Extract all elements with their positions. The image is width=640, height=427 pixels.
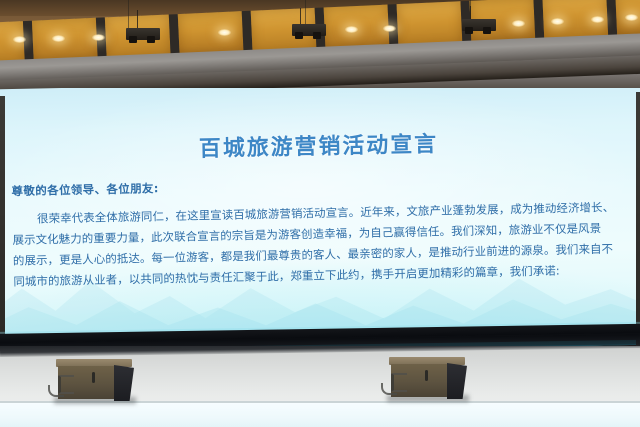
monitor-cable-right <box>381 383 397 395</box>
hall-wall-right <box>636 92 640 346</box>
ceiling-downlight <box>345 26 358 33</box>
presentation-slide: 百城旅游营销活动宣言 尊敬的各位领导、各位朋友: 很荣幸代表全体旅游同仁，在这里… <box>0 88 640 346</box>
stage-apron <box>0 403 640 427</box>
ceiling-downlight <box>625 14 638 21</box>
ceiling-downlight <box>551 18 564 25</box>
slide-body-paragraph: 很荣幸代表全体旅游同仁，在这里宣读百城旅游营销活动宣言。近年来，文旅产业蓬勃发展… <box>12 197 629 293</box>
truss-wire <box>137 10 138 28</box>
monitor-side <box>447 363 467 399</box>
ceiling <box>0 0 640 100</box>
ceiling-downlight <box>92 34 105 41</box>
ceiling-light-truss <box>462 19 496 31</box>
screenshot-scene: 百城旅游营销活动宣言 尊敬的各位领导、各位朋友: 很荣幸代表全体旅游同仁，在这里… <box>0 0 640 427</box>
monitor-port-slot <box>425 370 428 381</box>
monitor-side <box>114 365 134 401</box>
led-screen: 百城旅游营销活动宣言 尊敬的各位领导、各位朋友: 很荣幸代表全体旅游同仁，在这里… <box>0 88 640 346</box>
monitor-cable-left <box>48 385 64 397</box>
monitor-port-slot <box>92 372 95 383</box>
hall-wall-left <box>0 96 5 346</box>
ceiling-downlight <box>52 35 65 42</box>
slide-salutation: 尊敬的各位领导、各位朋友: <box>11 180 159 200</box>
ceiling-downlight <box>512 20 525 27</box>
stage-monitor-right <box>389 357 465 401</box>
truss-wire <box>300 8 301 24</box>
ceiling-downlight <box>383 25 396 32</box>
led-screen-surface: 百城旅游营销活动宣言 尊敬的各位领导、各位朋友: 很荣幸代表全体旅游同仁，在这里… <box>0 88 640 346</box>
ceiling-downlight <box>591 16 604 23</box>
ceiling-downlight <box>218 29 231 36</box>
monitor-top <box>389 357 465 365</box>
slide-title: 百城旅游营销活动宣言 <box>0 123 640 168</box>
ceiling-light-truss <box>292 24 326 36</box>
stage-monitor-left <box>56 359 132 403</box>
monitor-top <box>56 359 132 367</box>
ceiling-downlight <box>13 36 26 43</box>
truss-wire <box>470 6 471 20</box>
ceiling-light-truss <box>126 28 160 40</box>
